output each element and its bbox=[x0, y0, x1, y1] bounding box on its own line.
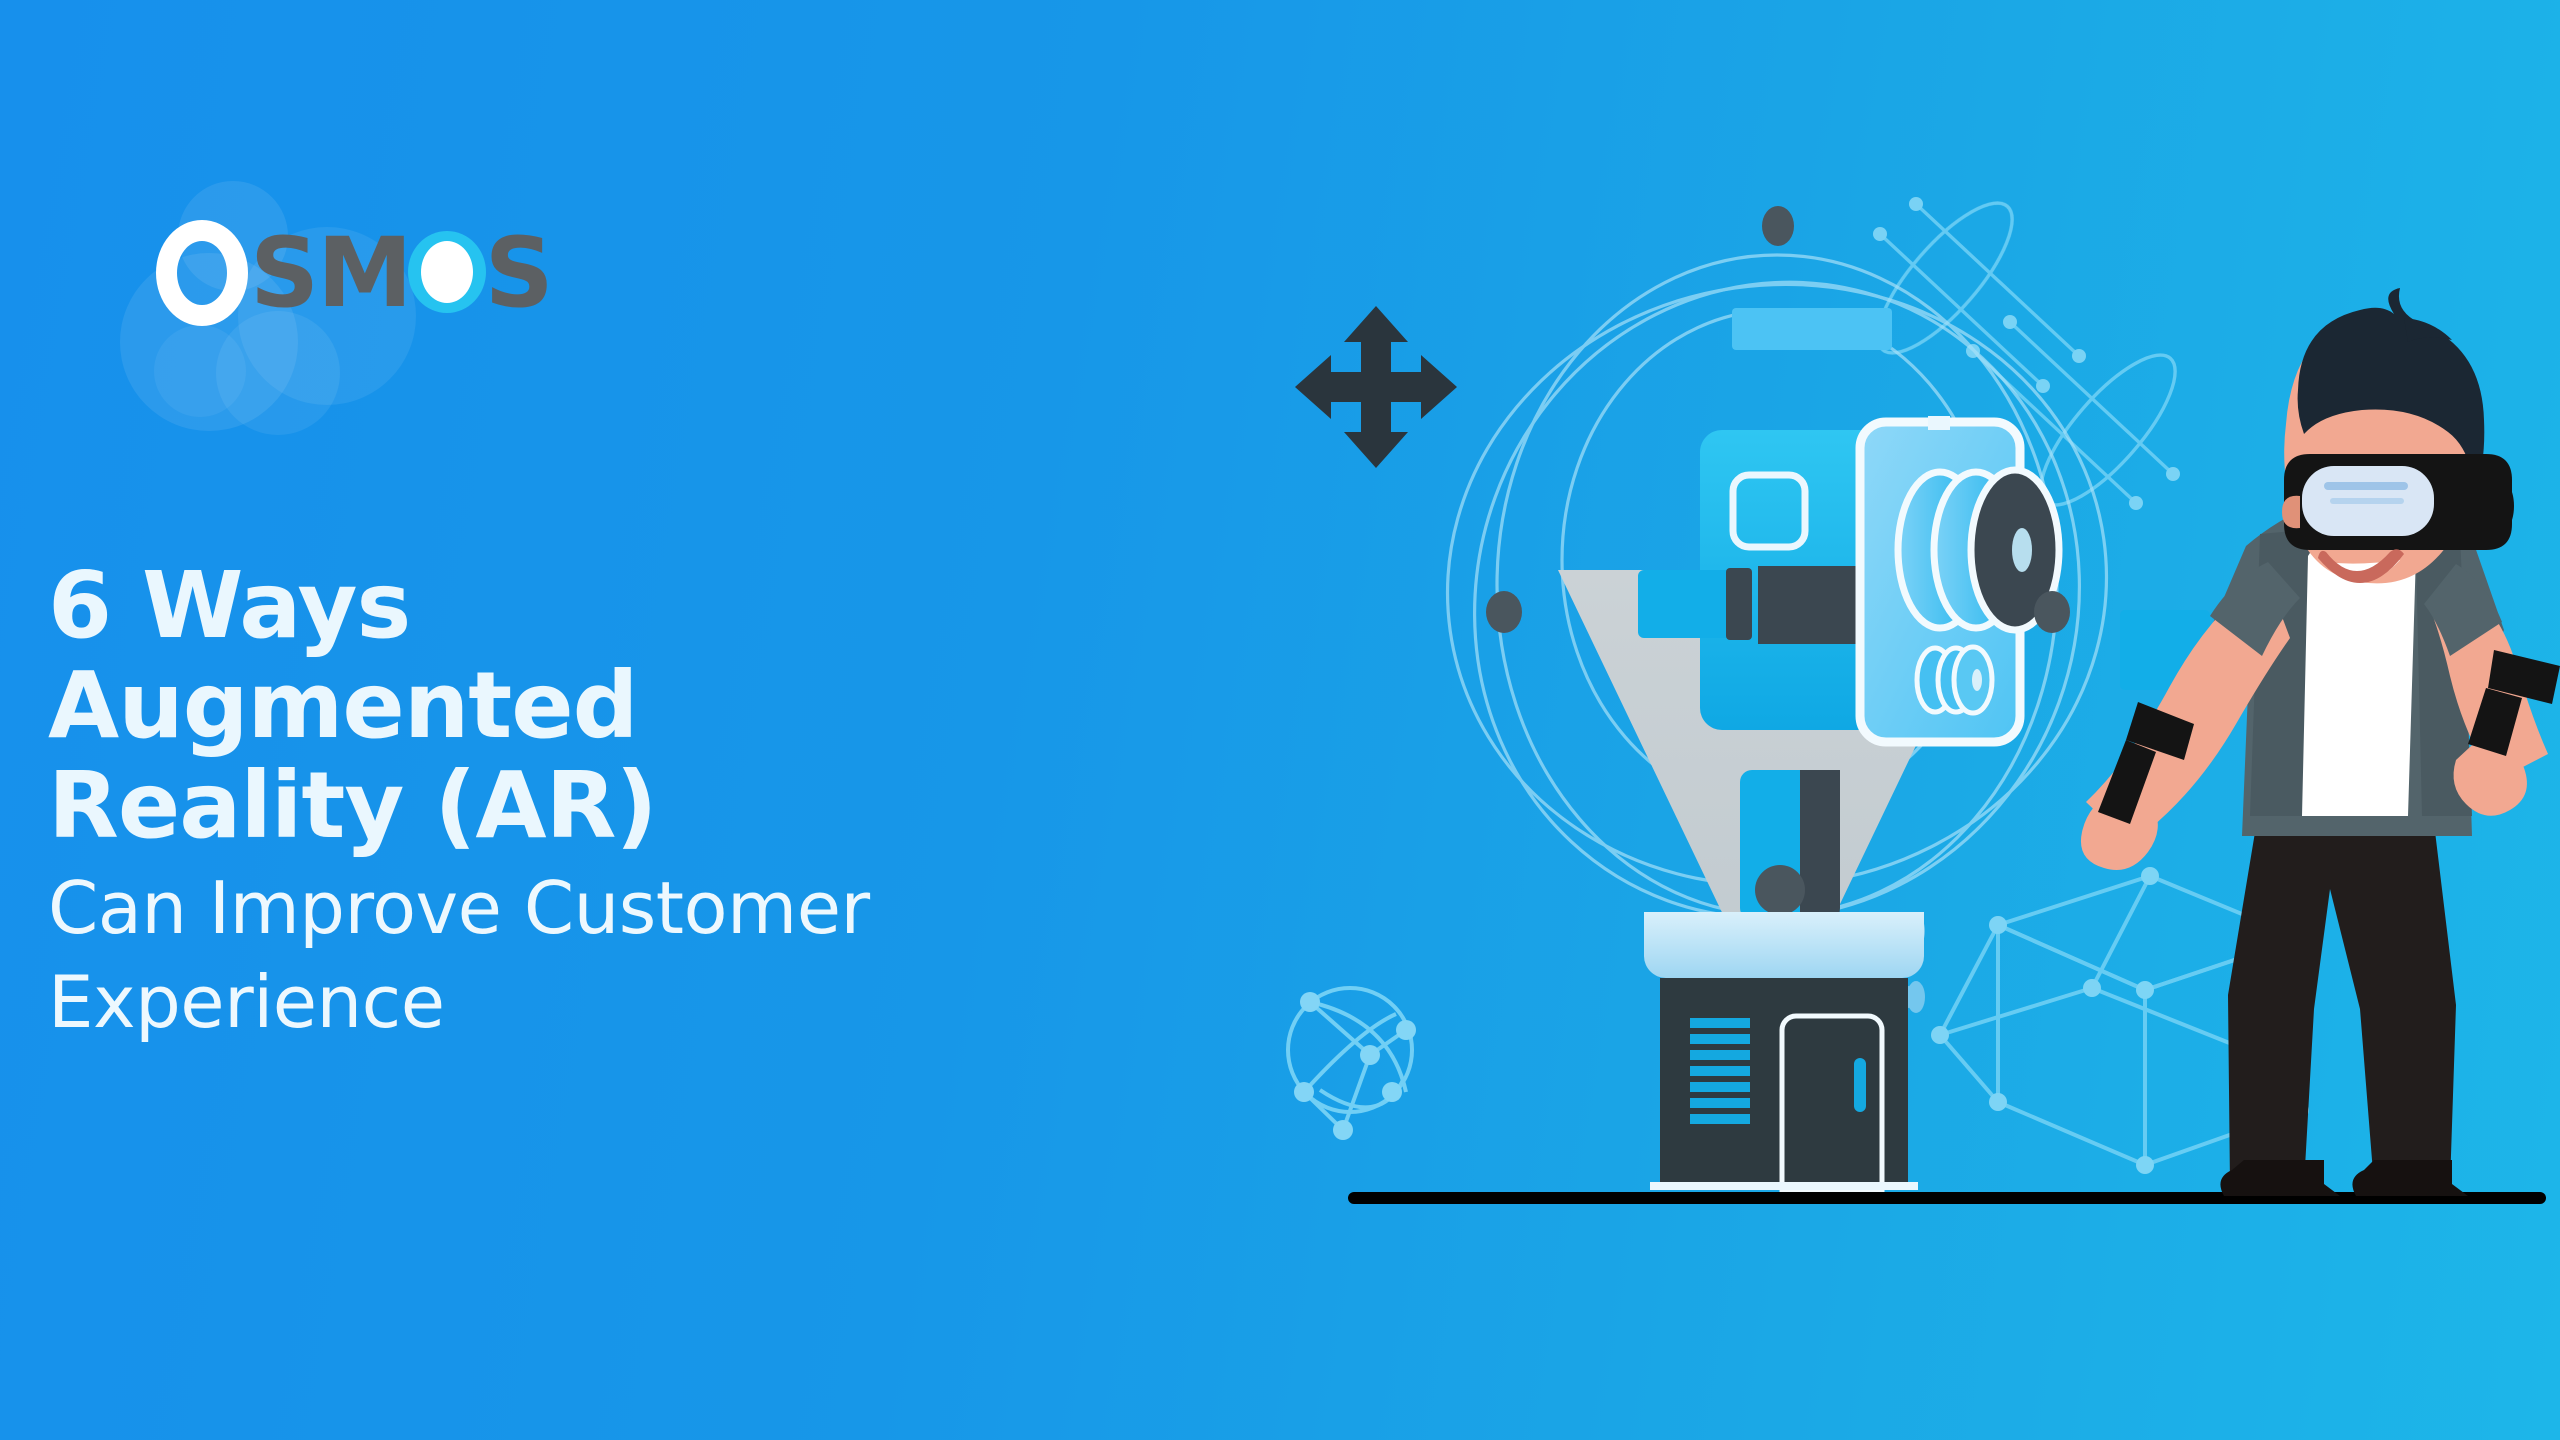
logo-circle-o-icon bbox=[408, 225, 486, 321]
ar-illustration bbox=[1240, 130, 2560, 1440]
move-arrows-icon[interactable] bbox=[1295, 306, 1457, 468]
logo-letter-s: S bbox=[485, 223, 552, 323]
logo-circle-core bbox=[421, 241, 473, 303]
vr-headset-icon bbox=[2284, 454, 2514, 550]
subtitle-line-2: Experience bbox=[48, 960, 1168, 1044]
ar-blog-banner: SM S 6 Ways Augmented Reality (AR) Can I… bbox=[0, 0, 2560, 1440]
logo-letters-sm: SM bbox=[250, 223, 411, 323]
logo-bubble-5 bbox=[154, 325, 246, 417]
logo-ring-o-icon bbox=[156, 220, 248, 326]
logo-wordmark: SM S bbox=[156, 213, 552, 333]
projector-base bbox=[1644, 912, 1924, 1190]
hologram-top-bar bbox=[1732, 308, 1892, 350]
headline-line-2: Augmented bbox=[48, 656, 1168, 756]
page-title: 6 Ways Augmented Reality (AR) Can Improv… bbox=[48, 556, 1168, 1044]
wireframe-globe-icon bbox=[1288, 988, 1416, 1140]
headline-line-3: Reality (AR) bbox=[48, 756, 1168, 856]
osmos-logo[interactable]: SM S bbox=[120, 175, 640, 375]
subtitle-line-1: Can Improve Customer bbox=[48, 866, 1168, 950]
headline-line-1: 6 Ways bbox=[48, 556, 1168, 656]
